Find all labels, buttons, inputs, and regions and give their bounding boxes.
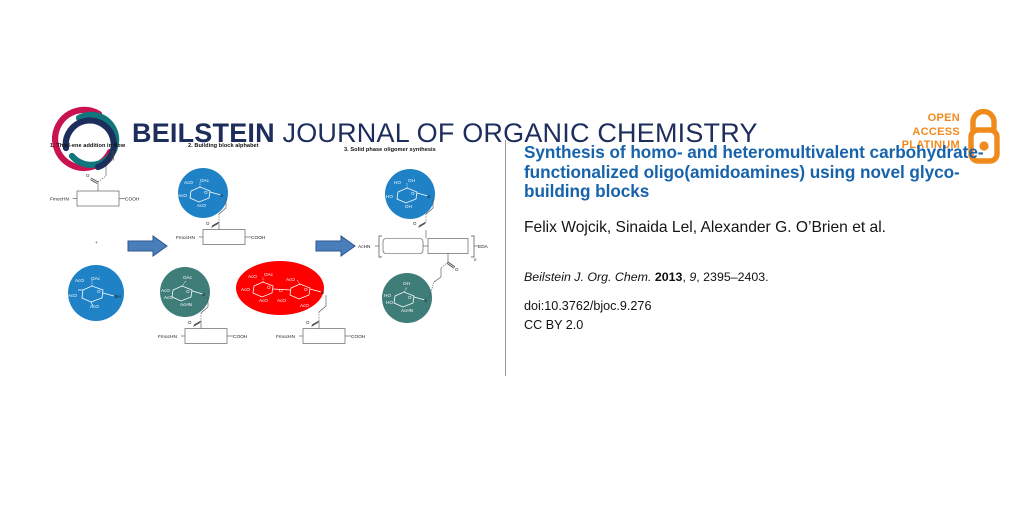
svg-text:OAc: OAc: [200, 178, 210, 183]
svg-text:S: S: [321, 290, 324, 296]
citation-journal: Beilstein J. Org. Chem.: [524, 270, 651, 284]
article-doi[interactable]: doi:10.3762/bjoc.9.276: [524, 298, 984, 315]
label-cooh-4: COOH: [351, 334, 366, 340]
label-n-3: n: [474, 257, 477, 262]
svg-text:O: O: [304, 287, 308, 292]
citation-year: 2013: [655, 270, 683, 284]
svg-text:OAc: OAc: [264, 272, 274, 277]
panel-3-oligomer: HO OH HO OH O S O AcHN: [358, 169, 489, 323]
label-plus-1: +: [95, 241, 98, 246]
svg-text:AcO: AcO: [184, 180, 193, 185]
label-sh-1: SH: [114, 294, 121, 300]
article-citation: Beilstein J. Org. Chem. 2013, 9, 2395–24…: [524, 269, 984, 285]
label-achn-3: AcHN: [358, 244, 371, 250]
svg-text:AcO: AcO: [90, 304, 99, 309]
svg-text:O: O: [408, 295, 412, 300]
svg-text:AcO: AcO: [248, 274, 257, 279]
svg-text:OAc: OAc: [91, 276, 101, 281]
svg-text:OH: OH: [403, 281, 410, 286]
svg-text:O: O: [267, 285, 271, 290]
svg-text:AcO: AcO: [277, 298, 286, 303]
label-fmochn-2: FmocHN: [176, 235, 195, 241]
label-fmochn-3: FmocHN: [158, 334, 177, 340]
label-eda-3: EDA: [478, 244, 489, 250]
article-license: CC BY 2.0: [524, 317, 984, 334]
svg-text:S: S: [202, 292, 205, 298]
svg-text:AcO: AcO: [241, 287, 250, 292]
svg-text:OH: OH: [408, 178, 415, 183]
svg-text:O: O: [204, 190, 208, 195]
journal-header: BEILSTEIN JOURNAL OF ORGANIC CHEMISTRY O…: [0, 48, 1024, 132]
svg-text:O: O: [413, 221, 417, 226]
svg-text:AcO: AcO: [161, 288, 170, 293]
reaction-arrow-2: [316, 236, 355, 256]
citation-pages: 2395–2403.: [703, 270, 768, 284]
svg-text:HO: HO: [386, 300, 393, 305]
panel-1-thiolene: FmocHN COOH O + AcO OAc: [50, 150, 140, 321]
page-root: BEILSTEIN JOURNAL OF ORGANIC CHEMISTRY O…: [0, 0, 1024, 512]
svg-text:O: O: [455, 267, 459, 272]
label-o-1: O: [86, 173, 90, 178]
reaction-arrow-1: [128, 236, 167, 256]
svg-text:O: O: [206, 221, 210, 226]
svg-text:AcO: AcO: [300, 303, 309, 308]
svg-text:O: O: [188, 320, 192, 325]
abstract-scheme: FmocHN COOH O + AcO OAc: [45, 140, 495, 360]
svg-text:HO: HO: [384, 293, 391, 298]
svg-text:AcO: AcO: [197, 203, 206, 208]
svg-text:O: O: [97, 289, 101, 294]
svg-text:O: O: [306, 320, 310, 325]
svg-text:OAc: OAc: [183, 275, 193, 280]
label-cooh-1: COOH: [125, 197, 140, 203]
label-cooh-2: COOH: [251, 235, 266, 241]
panel-2-building-blocks: AcO OAc AcO AcO O S O FmocHN: [158, 168, 366, 344]
svg-text:AcHN: AcHN: [180, 302, 192, 307]
article-title: Synthesis of homo- and heteromultivalent…: [524, 143, 984, 202]
article-authors: Felix Wojcik, Sinaida Lel, Alexander G. …: [524, 218, 984, 237]
citation-comma1: ,: [682, 270, 685, 284]
svg-text:AcO: AcO: [259, 298, 268, 303]
svg-text:AcO: AcO: [68, 293, 77, 298]
svg-text:O: O: [411, 191, 415, 196]
svg-text:AcO: AcO: [178, 193, 187, 198]
svg-text:O: O: [279, 288, 283, 293]
svg-text:S: S: [427, 194, 430, 200]
svg-text:AcO: AcO: [286, 277, 295, 282]
label-fmochn-1: FmocHN: [50, 197, 69, 203]
svg-text:HO: HO: [394, 180, 401, 185]
oa-line-open: OPEN: [902, 112, 960, 126]
column-divider: [505, 140, 506, 376]
svg-text:O: O: [186, 289, 190, 294]
svg-text:S: S: [424, 298, 427, 304]
article-info-column: Synthesis of homo- and heteromultivalent…: [524, 143, 984, 334]
graphical-abstract: 1. Thiol-ene addition in flow 2. Buildin…: [45, 140, 495, 360]
label-cooh-3: COOH: [233, 334, 248, 340]
svg-text:S: S: [220, 193, 223, 199]
svg-text:OH: OH: [405, 204, 412, 209]
label-fmochn-4: FmocHN: [276, 334, 295, 340]
svg-text:HO: HO: [386, 194, 393, 199]
svg-text:AcO: AcO: [75, 278, 84, 283]
svg-text:AcHN: AcHN: [401, 308, 413, 313]
oa-line-access: ACCESS: [902, 126, 960, 140]
citation-comma2: ,: [696, 270, 699, 284]
